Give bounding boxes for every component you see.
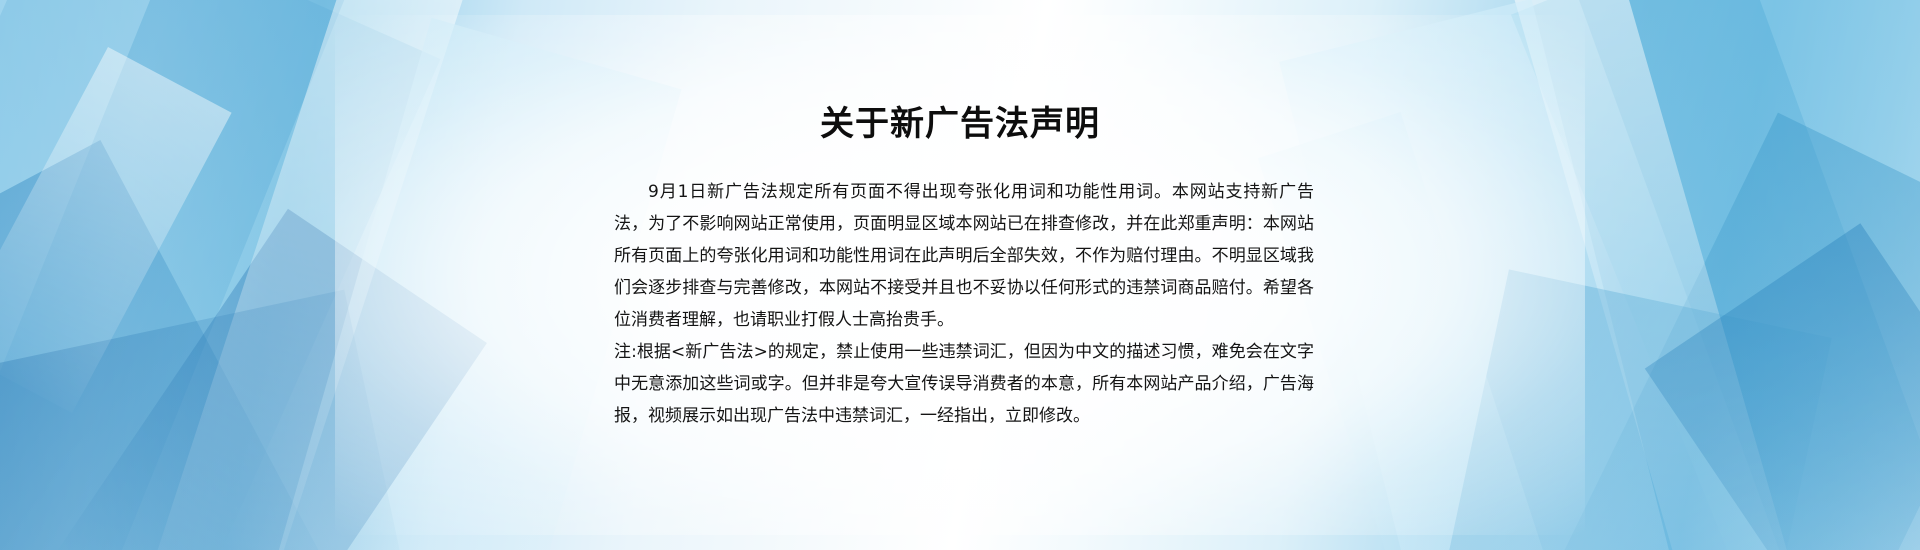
statement-paragraph-2: 注:根据<新广告法>的规定，禁止使用一些违禁词汇，但因为中文的描述习惯，难免会在… [614, 336, 1314, 432]
background-shape-right-1 [1511, 0, 1920, 550]
background-shape-left-1 [0, 0, 440, 550]
background-shape-left-8 [0, 47, 232, 413]
background-shape-right-4 [1500, 0, 1810, 550]
page-title: 关于新广告法声明 [590, 104, 1330, 145]
statement-paragraph-1: 9月1日新广告法规定所有页面不得出现夸张化用词和功能性用词。本网站支持新广告法，… [614, 176, 1314, 336]
background-shape-right-3 [1532, 113, 1920, 550]
background-shape-left-4 [53, 209, 487, 550]
background-shape-right-8 [1645, 223, 1920, 550]
statement-body: 9月1日新广告法规定所有页面不得出现夸张化用词和功能性用词。本网站支持新广告法，… [614, 176, 1314, 432]
background-shape-right-5 [1279, 0, 1701, 550]
advertising-law-statement-banner: 关于新广告法声明 9月1日新广告法规定所有页面不得出现夸张化用词和功能性用词。本… [0, 0, 1920, 550]
background-shape-right-2 [1545, 0, 1920, 550]
background-shape-left-2 [0, 0, 382, 550]
background-shape-left-7 [0, 290, 407, 550]
statement-content: 关于新广告法声明 9月1日新广告法规定所有页面不得出现夸张化用词和功能性用词。本… [590, 0, 1330, 550]
background-shape-left-5 [141, 0, 490, 550]
background-shape-left-3 [0, 140, 345, 550]
background-shape-right-6 [1438, 269, 1831, 550]
